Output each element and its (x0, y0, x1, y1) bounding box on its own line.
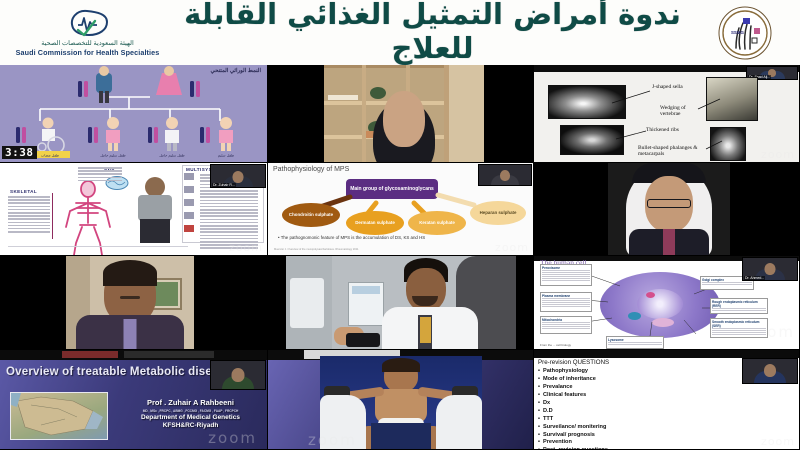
mps-node-label: Keratan sulphate (419, 220, 455, 225)
tile-pedigree-slide[interactable]: النمط الوراثي المتنحي (0, 65, 268, 163)
zoom-watermark: zoom (761, 148, 795, 161)
pedigree-child-carrier-2 (165, 117, 179, 151)
video-feed (534, 163, 799, 255)
question-item: Clinical features (538, 392, 608, 400)
tile-overview-title-slide[interactable]: Overview of treatable Metabolic diseases… (0, 350, 268, 450)
pedigree-label-2: طفل سليم حامل (159, 154, 184, 158)
saudi-map-image (10, 392, 108, 440)
scfhs-arabic-name: الهيئة السعودية للتخصصات الصحية (41, 39, 134, 47)
cell-label-text: Smooth endoplasmic reticulum (SER) (711, 319, 767, 328)
questions-heading: Pre-revision QUESTIONS (538, 359, 609, 366)
mps-node-chondroitin: Chondroitin sulphate (282, 203, 340, 227)
presenter-block: Prof . Zuhair A Rahbeeni MD , MSc , FRCP… (118, 398, 263, 430)
patient-slide: zoom (268, 350, 533, 449)
cell-footer: From the ... cell biology (540, 343, 571, 347)
tile-questions-slide[interactable]: Pre-revision QUESTIONS Pathophysiology M… (534, 350, 800, 450)
video-feed (268, 256, 533, 349)
questions-slide: Pre-revision QUESTIONS Pathophysiology M… (534, 350, 799, 449)
question-item: Pathophysiology (538, 368, 608, 376)
presenter-credentials: MD , MSc , FRCPC , ABMG , FCCMG , FACMG … (118, 409, 263, 413)
self-view-thumbnail[interactable]: Dr. Zuhair R... (210, 164, 266, 188)
skeletal-multisystem: SKELETAL CNS MULTISYSTEM (0, 163, 267, 255)
video-feed (0, 256, 267, 349)
cell-label-lysosome: Lysosome (606, 336, 664, 349)
xray-label-vertebrae: Wedging of vertebrae (660, 105, 704, 118)
presenter-face (383, 91, 425, 147)
seminar-title-arabic: ندوة أمراض التمثيل الغذائي القابلة للعلا… (175, 0, 690, 68)
zoom-watermark: zoom (208, 429, 257, 447)
self-view-thumbnail[interactable] (210, 360, 266, 390)
question-item: Surveilance/ monitering (538, 424, 608, 432)
overview-slide: Overview of treatable Metabolic diseases… (0, 350, 267, 449)
tile-mps-pathophysiology-slide[interactable]: Pathophysiology of MPS Main group of gly… (268, 163, 534, 256)
pip-name-label: Dr. Ahmed... (744, 276, 765, 280)
cell-label-text: Peroxisome (541, 265, 591, 270)
pedigree-diagram: النمط الوراثي المتنحي (0, 65, 267, 162)
mps-node-label: Chondroitin sulphate (289, 212, 333, 217)
xray-findings: Dr. Saad Alj... J-shaped sella Wedging o… (534, 65, 799, 162)
patient-photo-thumb (132, 177, 178, 243)
webcam-background (324, 65, 484, 162)
question-item: Mode of inheritance (538, 376, 608, 384)
tile-participant-male-whitecoat[interactable] (268, 256, 534, 350)
mps-bullet-text: The pathognomonic feature of MPS is the … (281, 235, 425, 240)
mps-node-heparan: Heparan sulphate (470, 201, 526, 225)
tile-xray-slide[interactable]: Dr. Saad Alj... J-shaped sella Wedging o… (534, 65, 800, 163)
cell-label-text: Lysosome (607, 337, 663, 342)
tile-participant-male-thobe[interactable] (534, 163, 800, 256)
pedigree-child-healthy (219, 117, 233, 151)
tile-human-cell-slide[interactable]: The human cell Peroxisome (534, 256, 800, 350)
human-cell-diagram: The human cell Peroxisome (534, 256, 799, 349)
cell-label-peroxisome: Peroxisome (540, 264, 592, 286)
pedigree-child-carrier-1 (106, 117, 120, 151)
tile-patient-photo-slide[interactable]: zoom (268, 350, 534, 450)
cell-label-plasma-membrane: Plasma membrane (540, 292, 592, 312)
zoom-watermark: zoom (761, 435, 795, 448)
zoom-gallery-grid: النمط الوراثي المتنحي (0, 65, 800, 450)
question-item: Survival/ prognosis (538, 432, 608, 440)
webcam-frame (608, 163, 730, 255)
mps-diagram: Pathophysiology of MPS Main group of gly… (268, 163, 533, 255)
tile-skeletal-slide[interactable]: SKELETAL CNS MULTISYSTEM (0, 163, 268, 256)
pedigree-label-0: طفل مصاب (41, 154, 59, 158)
presenter-name: Prof . Zuhair A Rahbeeni (147, 398, 234, 407)
pip-name-label: Dr. Zuhair R... (212, 183, 236, 187)
header-banner: الهيئة السعودية للتخصصات الصحية Saudi Co… (0, 0, 800, 65)
cell-label-text: Rough endoplasmic reticulum (RER) (711, 299, 767, 308)
self-view-thumbnail[interactable]: Dr. Ahmed... (742, 257, 798, 281)
meeting-timer: 3:38 (2, 146, 37, 159)
zoom-watermark: zoom (495, 241, 529, 254)
question-item: Post- revision questions (538, 447, 608, 449)
presenter-department: Department of Medical Genetics (118, 414, 263, 422)
question-item: D.D (538, 408, 608, 416)
question-item: Prevention (538, 439, 608, 447)
zoom-watermark: zoom (308, 431, 357, 449)
mps-node-keratan: Keratan sulphate (408, 211, 466, 235)
skeletal-heading: SKELETAL (10, 189, 37, 194)
xray-label-sella: J-shaped sella (652, 84, 683, 90)
video-feed (268, 65, 533, 162)
tile-participant-female-presenter[interactable] (268, 65, 534, 163)
pedigree-child-affected (38, 118, 64, 154)
zoom-watermark: om (767, 323, 795, 341)
mps-reference: Muenzer J. Overview of the mucopolysacch… (274, 248, 358, 251)
zoom-watermark: zoom (229, 241, 263, 254)
cell-label-text: Mitochondria (541, 317, 591, 322)
scfhs-english-name: Saudi Commission for Health Specialties (16, 48, 160, 57)
pedigree-mother (156, 66, 182, 95)
cell-label-mitochondria: Mitochondria (540, 316, 592, 334)
webcam-frame (286, 256, 516, 349)
mps-node-label: Dermatan sulphate (355, 220, 395, 225)
mps-node-label: Heparan sulphate (480, 210, 517, 215)
ssmg-logo: SSMG (690, 4, 800, 62)
self-view-thumbnail[interactable] (742, 358, 798, 384)
xray-label-phalanges: Bullet-shaped phalanges & metacarpals (638, 145, 710, 158)
mps-bullet: • The pathognomonic feature of MPS is th… (278, 235, 425, 240)
question-item: Dx (538, 400, 608, 408)
cell-label-text: Plasma membrane (541, 293, 591, 298)
pedigree-label-3: طفل سليم (218, 154, 234, 158)
webcam-frame (66, 256, 194, 349)
questions-list: Pathophysiology Mode of inheritance Prev… (538, 368, 608, 449)
question-item: Prevalance (538, 384, 608, 392)
scfhs-mark-icon (65, 8, 111, 38)
ssmg-mark-icon: SSMG (716, 4, 774, 62)
scfhs-logo: الهيئة السعودية للتخصصات الصحية Saudi Co… (0, 8, 175, 57)
pedigree-label-1: طفل سليم حامل (100, 154, 125, 158)
xray-label-ribs: Thickened ribs (646, 127, 679, 133)
self-view-thumbnail[interactable] (478, 164, 532, 186)
mps-node-dermatan: Dermatan sulphate (346, 211, 404, 235)
cell-label-rer: Rough endoplasmic reticulum (RER) (710, 298, 768, 314)
skeletal-bullets (8, 196, 50, 234)
question-item: TTT (538, 416, 608, 424)
tile-participant-male-tie[interactable] (0, 256, 268, 350)
ssmg-abbr: SSMG (731, 30, 745, 35)
cell-label-ser: Smooth endoplasmic reticulum (SER) (710, 318, 768, 338)
